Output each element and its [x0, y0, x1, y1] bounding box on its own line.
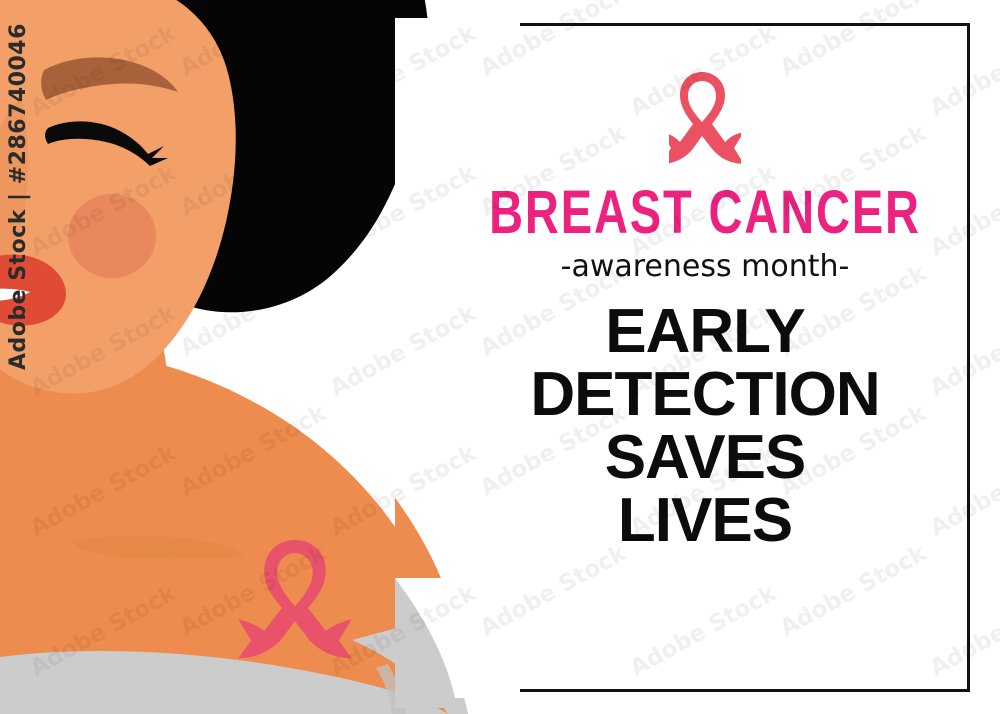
poster-canvas: BREAST CANCER -awareness month- EARLY DE…: [0, 0, 1000, 714]
blush-cheek: [68, 194, 156, 278]
page-subtitle: -awareness month-: [470, 252, 940, 282]
page-title: BREAST CANCER: [484, 184, 926, 242]
headline-line-4: LIVES: [470, 489, 940, 552]
watermark-credit: Adobe Stock | #286740046: [6, 23, 31, 370]
poster-content: BREAST CANCER -awareness month- EARLY DE…: [470, 70, 940, 552]
headline-line-2: DETECTION: [470, 363, 940, 426]
headline-block: EARLY DETECTION SAVES LIVES: [470, 300, 940, 553]
awareness-ribbon-icon: [669, 70, 741, 168]
headline-line-1: EARLY: [470, 300, 940, 363]
headline-line-3: SAVES: [470, 426, 940, 489]
